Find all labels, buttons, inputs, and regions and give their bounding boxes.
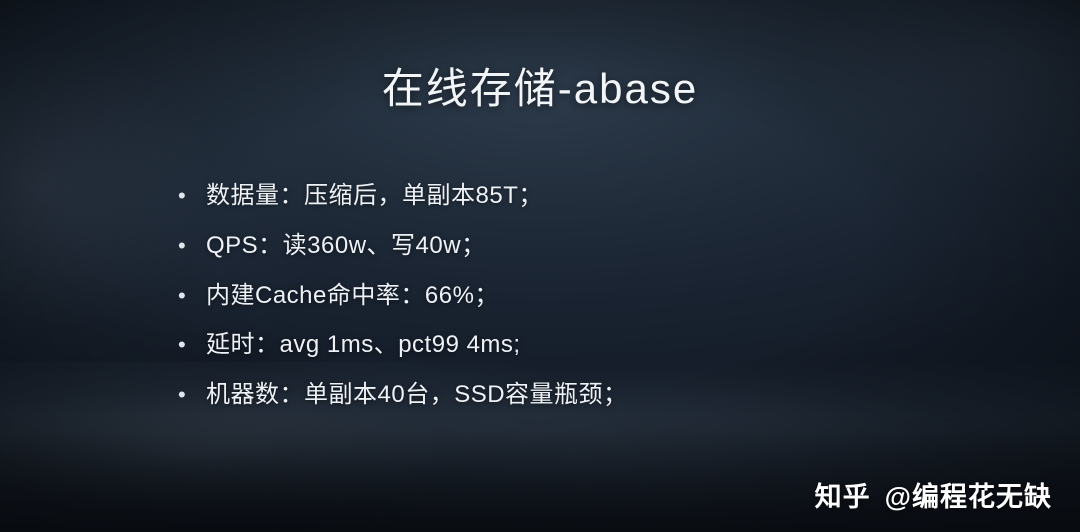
- slide-title: 在线存储-abase: [0, 55, 1080, 116]
- bullet-marker-icon: •: [178, 384, 206, 406]
- list-item: • 数据量：压缩后，单副本85T；: [178, 182, 628, 211]
- presentation-slide: 在线存储-abase • 数据量：压缩后，单副本85T； • QPS：读360w…: [0, 0, 1080, 532]
- bullet-list: • 数据量：压缩后，单副本85T； • QPS：读360w、写40w； • 内建…: [178, 182, 628, 431]
- bullet-text: QPS：读360w、写40w；: [206, 232, 486, 261]
- list-item: • QPS：读360w、写40w；: [178, 232, 628, 261]
- bullet-text: 数据量：压缩后，单副本85T；: [206, 182, 543, 211]
- bullet-marker-icon: •: [178, 185, 206, 207]
- watermark-username: @编程花无缺: [885, 475, 1052, 514]
- watermark: 知乎 @编程花无缺: [815, 475, 1052, 514]
- list-item: • 内建Cache命中率：66%；: [178, 282, 628, 311]
- slide-content: 在线存储-abase • 数据量：压缩后，单副本85T； • QPS：读360w…: [0, 0, 1080, 532]
- list-item: • 机器数：单副本40台，SSD容量瓶颈；: [178, 381, 628, 410]
- bullet-marker-icon: •: [178, 285, 206, 307]
- bullet-marker-icon: •: [178, 334, 206, 356]
- list-item: • 延时：avg 1ms、pct99 4ms;: [178, 331, 628, 360]
- bullet-text: 内建Cache命中率：66%；: [206, 282, 499, 311]
- bullet-text: 延时：avg 1ms、pct99 4ms;: [206, 331, 521, 360]
- bullet-marker-icon: •: [178, 235, 206, 257]
- watermark-brand: 知乎: [815, 475, 871, 514]
- bullet-text: 机器数：单副本40台，SSD容量瓶颈；: [206, 381, 628, 410]
